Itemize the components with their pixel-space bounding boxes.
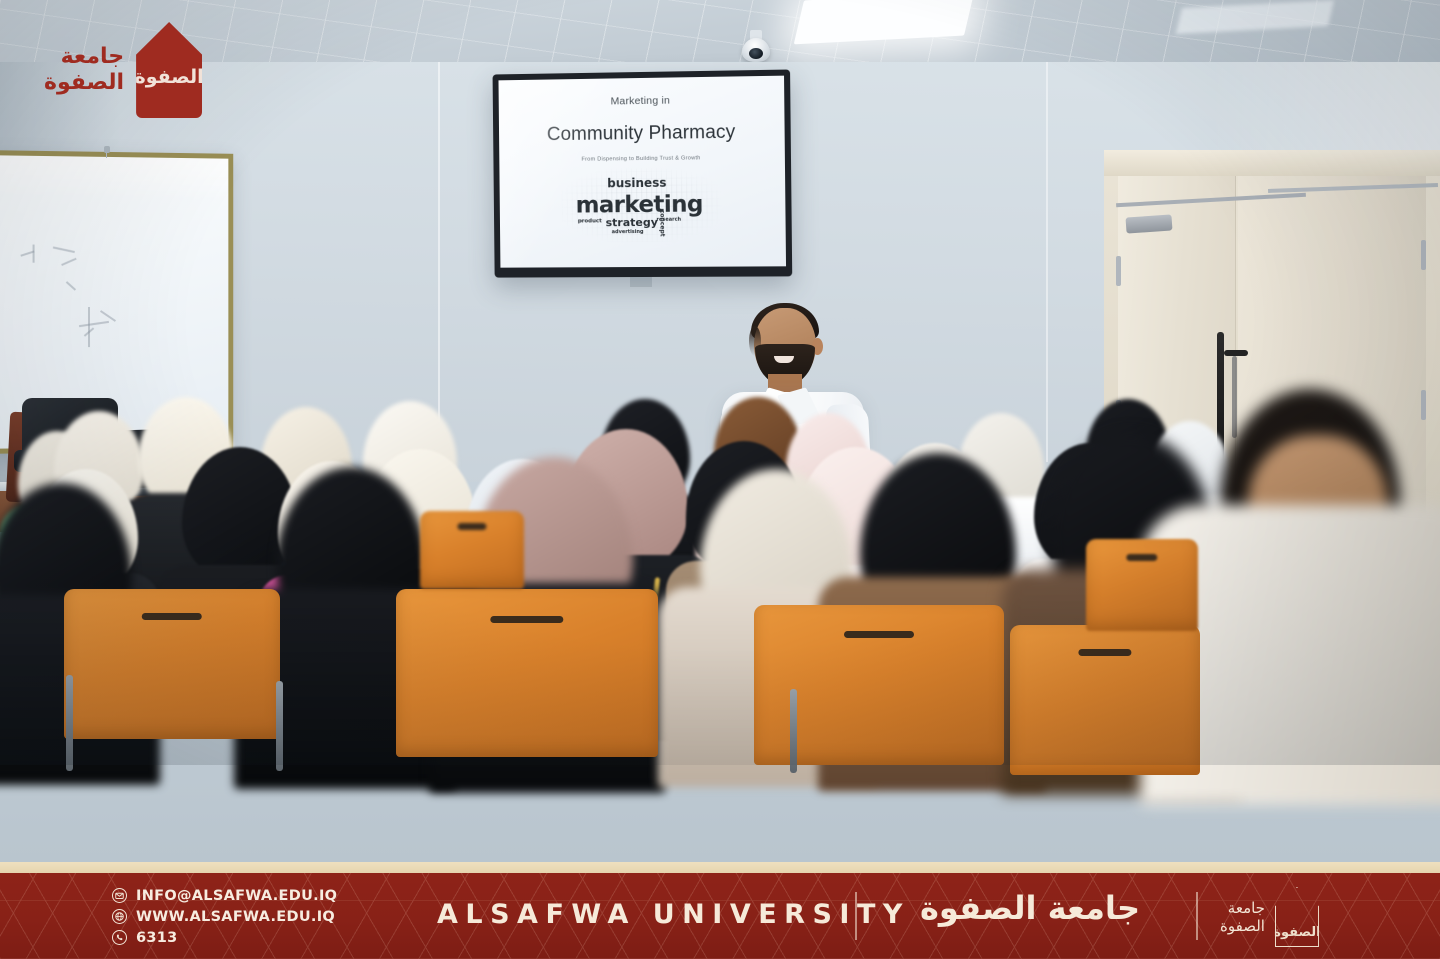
footer-arch-calligraphy: الصفوة [1276, 888, 1318, 946]
footer-logo-line1: جامعة [1220, 899, 1265, 917]
footer-logo: جامعة الصفوة الصفوة [1220, 887, 1319, 947]
wordcloud-concept: concept [658, 210, 665, 237]
footer-phone-row[interactable]: 6313 [112, 927, 337, 948]
slide-title: Community Pharmacy [547, 122, 736, 146]
logo-arabic-line2: الصفوة [44, 70, 124, 96]
footer-divider-1 [855, 892, 857, 940]
footer-cream-strip [0, 862, 1440, 873]
envelope-icon [112, 888, 127, 903]
door-closer-body [1125, 214, 1172, 233]
phone-icon [112, 930, 127, 945]
footer-divider-2 [1196, 892, 1198, 940]
lecture-chair [396, 589, 658, 757]
footer-phone-text: 6313 [136, 930, 178, 946]
whiteboard-hook [104, 146, 110, 153]
audience [0, 335, 1440, 765]
logo-arch-shape: الصفوة [136, 22, 202, 118]
lecture-chair [1086, 539, 1198, 631]
logo-arabic-line1: جامعة [44, 44, 124, 70]
globe-icon [112, 909, 127, 924]
footer-email-text: INFO@ALSAFWA.EDU.IQ [136, 888, 337, 904]
logo-arch-mark-icon: الصفوة [136, 22, 202, 118]
footer-contact-block: INFO@ALSAFWA.EDU.IQ WWW.ALSAFWA.EDU.IQ 6… [112, 885, 337, 948]
wordcloud-strategy: strategy [606, 216, 658, 229]
wordcloud-product: product [578, 218, 602, 224]
wordcloud-business: business [607, 176, 666, 191]
slide-kicker: Marketing in [610, 95, 670, 108]
presentation-screen: Marketing in Community Pharmacy From Dis… [493, 69, 793, 277]
tv-wall-mount [630, 277, 652, 287]
chair-leg [66, 675, 73, 771]
footer-logo-line2: الصفوة [1220, 917, 1265, 935]
university-logo-top: جامعة الصفوة الصفوة [44, 22, 202, 118]
dome-security-camera-icon [742, 38, 770, 62]
footer-university-name-en: ALSAFWA UNIVERSITY [437, 899, 910, 930]
slide-subtitle: From Dispensing to Building Trust & Grow… [581, 155, 700, 162]
footer-website-row[interactable]: WWW.ALSAFWA.EDU.IQ [112, 906, 337, 927]
footer-bar: INFO@ALSAFWA.EDU.IQ WWW.ALSAFWA.EDU.IQ 6… [0, 873, 1440, 959]
footer-website-text: WWW.ALSAFWA.EDU.IQ [136, 909, 335, 925]
lecture-photo: Marketing in Community Pharmacy From Dis… [0, 0, 1440, 959]
slide-content: Marketing in Community Pharmacy From Dis… [498, 76, 786, 268]
chair-leg [276, 681, 283, 771]
slide-wordcloud: business marketing strategy product adve… [561, 167, 722, 242]
logo-arabic-text: جامعة الصفوة [44, 44, 124, 96]
lecture-hall-room: Marketing in Community Pharmacy From Dis… [0, 0, 1440, 862]
footer-logo-arch-icon: الصفوة [1275, 887, 1319, 947]
lecture-chair [420, 511, 524, 589]
footer-university-name-ar: جامعة الصفوة [880, 889, 1180, 927]
screen-surface: Marketing in Community Pharmacy From Dis… [498, 76, 786, 268]
footer-email-row[interactable]: INFO@ALSAFWA.EDU.IQ [112, 885, 337, 906]
footer-arch-shape: الصفوة [1275, 887, 1319, 947]
chair-leg [790, 689, 797, 773]
wordcloud-advertising: advertising [612, 229, 644, 235]
door-header-panel [1104, 150, 1440, 176]
lecture-chair [64, 589, 280, 739]
logo-calligraphy: الصفوة [136, 22, 202, 118]
footer-logo-text: جامعة الصفوة [1220, 899, 1265, 935]
wordcloud-marketing: marketing [576, 191, 703, 218]
lecture-chair [1010, 625, 1200, 775]
